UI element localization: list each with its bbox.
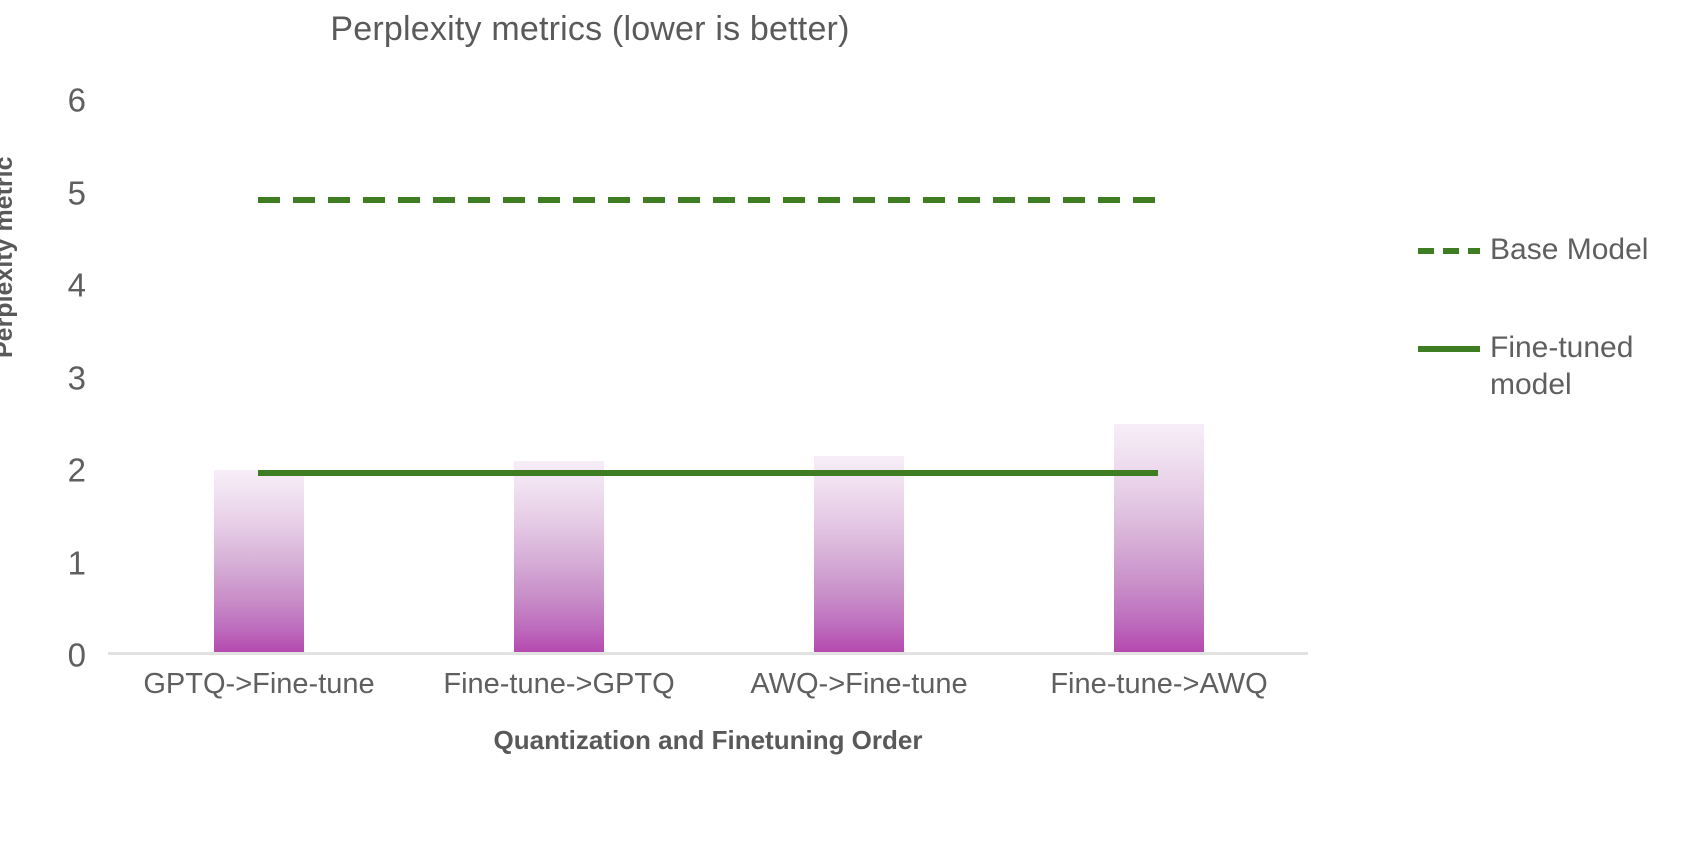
y-tick-label: 2 — [26, 454, 86, 487]
bar-finetune-to-awq[interactable] — [1114, 424, 1204, 655]
legend-solid-line-icon — [1418, 346, 1480, 352]
y-tick-label: 5 — [26, 176, 86, 209]
y-tick-label: 4 — [26, 269, 86, 302]
legend-label: Base Model — [1490, 232, 1648, 269]
x-axis-line — [108, 652, 1308, 655]
plot-area — [108, 100, 1308, 655]
bar-gptq-to-finetune[interactable] — [214, 470, 304, 655]
x-axis-title: Quantization and Finetuning Order — [108, 725, 1308, 756]
legend-item-fine-tuned-model[interactable]: Fine-tuned model — [1418, 330, 1670, 403]
chart-title: Perplexity metrics (lower is better) — [0, 10, 1180, 49]
y-tick-label: 3 — [26, 361, 86, 394]
bar-awq-to-finetune[interactable] — [814, 456, 904, 655]
reference-line-fine-tuned-model — [258, 470, 1158, 476]
x-tick-label-2: AWQ->Fine-tune — [709, 668, 1009, 701]
y-tick-label: 0 — [26, 639, 86, 672]
legend-label: Fine-tuned model — [1490, 330, 1670, 403]
legend-item-base-model[interactable]: Base Model — [1418, 232, 1648, 269]
x-tick-label-3: Fine-tune->AWQ — [1009, 668, 1309, 701]
y-axis-tick-labels: 6 5 4 3 2 1 0 — [0, 100, 86, 655]
chart-container: Perplexity metrics (lower is better) Per… — [0, 0, 1683, 860]
legend-dashed-line-icon — [1418, 248, 1480, 254]
x-tick-label-1: Fine-tune->GPTQ — [409, 668, 709, 701]
x-axis-tick-labels: GPTQ->Fine-tune Fine-tune->GPTQ AWQ->Fin… — [108, 668, 1308, 714]
x-tick-label-0: GPTQ->Fine-tune — [109, 668, 409, 701]
y-tick-label: 6 — [26, 84, 86, 117]
y-tick-label: 1 — [26, 546, 86, 579]
reference-line-base-model — [258, 197, 1158, 203]
bar-finetune-to-gptq[interactable] — [514, 461, 604, 655]
